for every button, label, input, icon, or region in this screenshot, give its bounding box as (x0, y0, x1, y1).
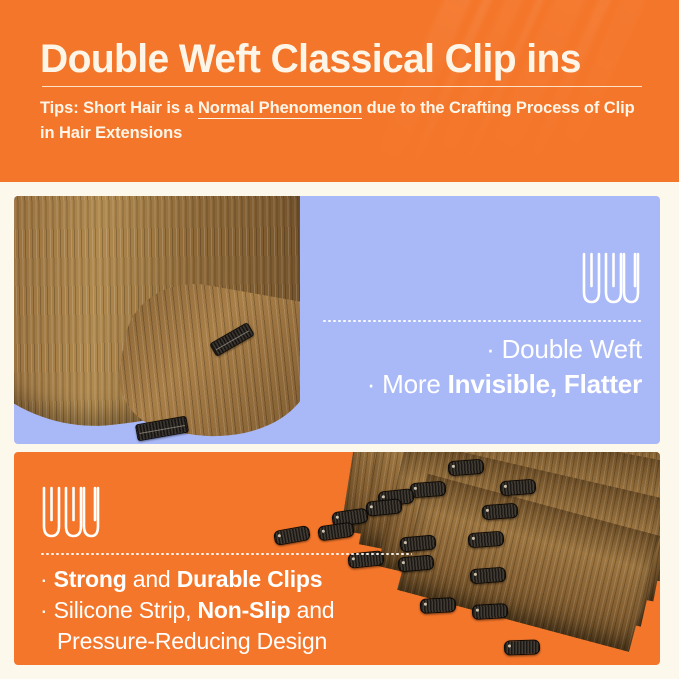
top-panel-text-block: · Double Weft · More Invisible, Flatter (322, 252, 642, 402)
weft-icon (40, 486, 102, 542)
dotted-divider (40, 553, 412, 555)
bullet-text-emphasis: Invisible, Flatter (448, 369, 642, 399)
bullet-marker: · (367, 369, 382, 399)
bullet-text: More (382, 369, 447, 399)
bottom-panel-text-block: · Strong and Durable Clips · Silicone St… (40, 486, 412, 657)
infographic-page: Double Weft Classical Clip ins Tips: Sho… (0, 0, 679, 679)
page-title: Double Weft Classical Clip ins (40, 36, 581, 82)
feature-bullet: · More Invisible, Flatter (322, 367, 642, 402)
light-rays-decoration (399, 0, 679, 182)
snap-clip (470, 567, 507, 584)
bullet-text-emphasis: Strong (54, 566, 127, 592)
bullet-marker: · (40, 597, 54, 623)
snap-clip (468, 531, 505, 548)
bullet-text: and (127, 566, 177, 592)
tips-text: Tips: Short Hair is a Normal Phenomenon … (40, 96, 640, 146)
title-divider (42, 86, 642, 87)
snap-clip (410, 481, 447, 498)
feature-panel-clips: · Strong and Durable Clips · Silicone St… (14, 452, 660, 665)
weft-icon (580, 252, 642, 308)
bullet-text: and (290, 597, 334, 623)
feature-bullet: · Silicone Strip, Non-Slip and (40, 595, 412, 626)
bullet-text-emphasis: Non-Slip (197, 597, 290, 623)
snap-clip (500, 479, 537, 496)
snap-clip (448, 459, 485, 476)
snap-clip (504, 639, 541, 655)
header-banner: Double Weft Classical Clip ins Tips: Sho… (0, 0, 679, 182)
hair-weft-photo (14, 196, 300, 444)
bullet-marker: · (486, 334, 501, 364)
bullet-marker: · (40, 566, 54, 592)
feature-bullet: · Strong and Durable Clips (40, 564, 412, 595)
snap-clip (420, 597, 457, 614)
feature-bullet: · Double Weft (322, 332, 642, 367)
snap-clip (482, 503, 519, 520)
snap-clip (472, 603, 509, 620)
dotted-divider (322, 320, 642, 322)
tips-underlined-phrase: Normal Phenomenon (198, 99, 362, 119)
feature-panel-double-weft: · Double Weft · More Invisible, Flatter (14, 196, 660, 444)
bullet-text-emphasis: Durable Clips (177, 566, 323, 592)
feature-bullet-continuation: Pressure-Reducing Design (40, 626, 412, 657)
bullet-text: Silicone Strip, (54, 597, 198, 623)
tips-prefix: Tips: Short Hair is a (40, 99, 198, 117)
bullet-text: Pressure-Reducing Design (57, 628, 327, 654)
bullet-text: Double Weft (502, 334, 642, 364)
